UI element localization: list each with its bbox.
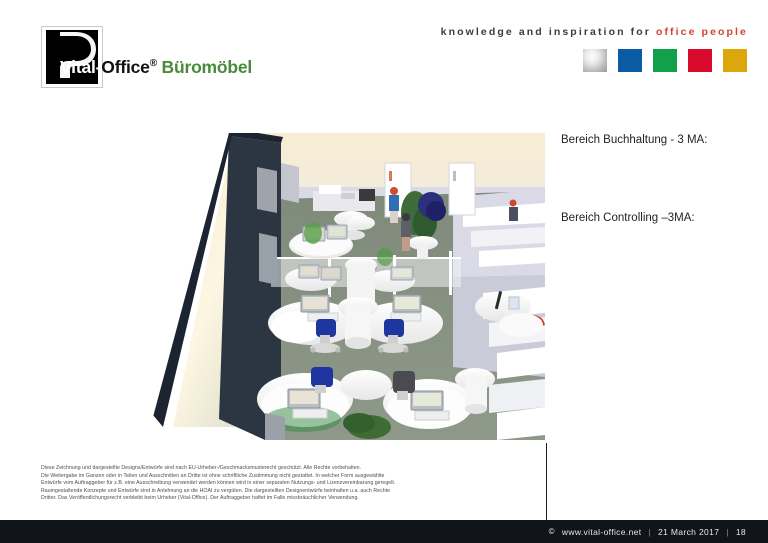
logo-word-vital: Vital- <box>60 57 101 77</box>
footer-page-number: 18 <box>736 527 746 537</box>
brand-color-swatches <box>582 48 748 73</box>
tagline-main-text: knowledge and inspiration for <box>441 26 656 38</box>
tagline-accent-text: office people <box>656 26 748 38</box>
swatch-blue <box>617 48 643 73</box>
legal-line: Die Weitergabe im Ganzen oder in Teilen … <box>41 473 541 481</box>
office-render-image <box>153 127 545 440</box>
page-footer: © www.vital-office.net | 21 March 2017 |… <box>0 520 768 543</box>
logo-wordmark: Vital-Office® Büromöbel <box>60 59 252 77</box>
legal-line: Dritter. Das Veröffentlichungsrecht verb… <box>41 495 541 503</box>
swatch-green <box>652 48 678 73</box>
swatch-red <box>687 48 713 73</box>
footer-website-link[interactable]: www.vital-office.net <box>562 527 642 537</box>
legal-disclaimer: Diese Zeichnung und dargestellte Designs… <box>41 465 541 503</box>
copyright-icon: © <box>549 527 555 536</box>
label-bereich-controlling: Bereich Controlling –3MA: <box>561 212 761 226</box>
footer-separator: | <box>726 527 729 537</box>
registered-mark-icon: ® <box>150 58 157 69</box>
vertical-divider <box>546 443 547 520</box>
footer-date: 21 March 2017 <box>658 527 719 537</box>
page-header: Vital-Office® Büromöbel knowledge and in… <box>0 0 768 100</box>
logo-word-office: Office <box>101 57 149 77</box>
annotation-labels: Bereich Buchhaltung - 3 MA: Bereich Cont… <box>561 127 761 226</box>
logo-word-product: Büromöbel <box>162 57 253 77</box>
footer-separator: | <box>648 527 651 537</box>
swatch-gold <box>722 48 748 73</box>
header-tagline: knowledge and inspiration for office peo… <box>441 26 748 38</box>
legal-line: Entwürfe vom Auftraggeber für z.B. eine … <box>41 480 541 488</box>
legal-line: Raumgestaltende Konzepte und Entwürfe si… <box>41 488 541 496</box>
label-bereich-buchhaltung: Bereich Buchhaltung - 3 MA: <box>561 134 761 148</box>
legal-line: Diese Zeichnung und dargestellte Designs… <box>41 465 541 473</box>
swatch-silver <box>582 48 608 73</box>
